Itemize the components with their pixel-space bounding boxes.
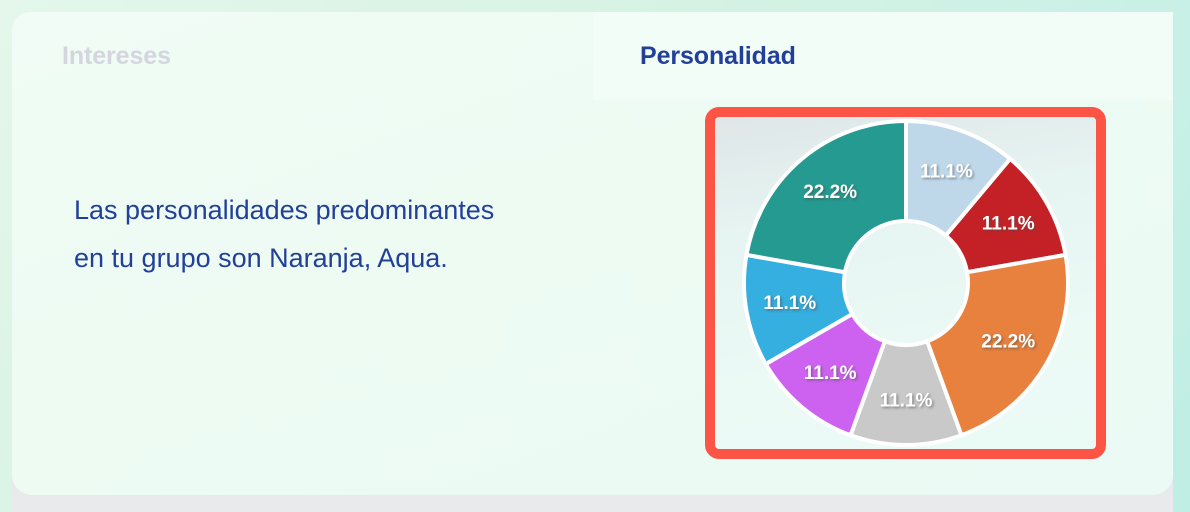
tab-intereses-label: Intereses [62, 42, 171, 71]
donut-chart[interactable]: 11.1%11.1%22.2%11.1%11.1%11.1%22.2% [715, 117, 1096, 449]
donut-slice-label: 11.1% [919, 162, 972, 183]
donut-slice-label: 11.1% [803, 363, 856, 384]
tab-strip: Intereses Personalidad [12, 12, 1173, 100]
donut-slice-label: 11.1% [981, 214, 1034, 235]
donut-slice-label: 11.1% [879, 391, 932, 412]
tab-personalidad[interactable]: Personalidad [593, 12, 1173, 100]
chart-highlight-frame: 11.1%11.1%22.2%11.1%11.1%11.1%22.2% [705, 107, 1106, 459]
donut-slice-label: 22.2% [803, 182, 857, 203]
tab-intereses[interactable]: Intereses [12, 12, 593, 100]
personality-summary-text: Las personalidades predominantes en tu g… [74, 186, 504, 282]
tab-personalidad-label: Personalidad [640, 42, 796, 71]
donut-chart-svg: 11.1%11.1%22.2%11.1%11.1%11.1%22.2% [741, 118, 1071, 448]
donut-slice-label: 11.1% [763, 293, 816, 314]
donut-slice-label: 22.2% [981, 332, 1035, 353]
